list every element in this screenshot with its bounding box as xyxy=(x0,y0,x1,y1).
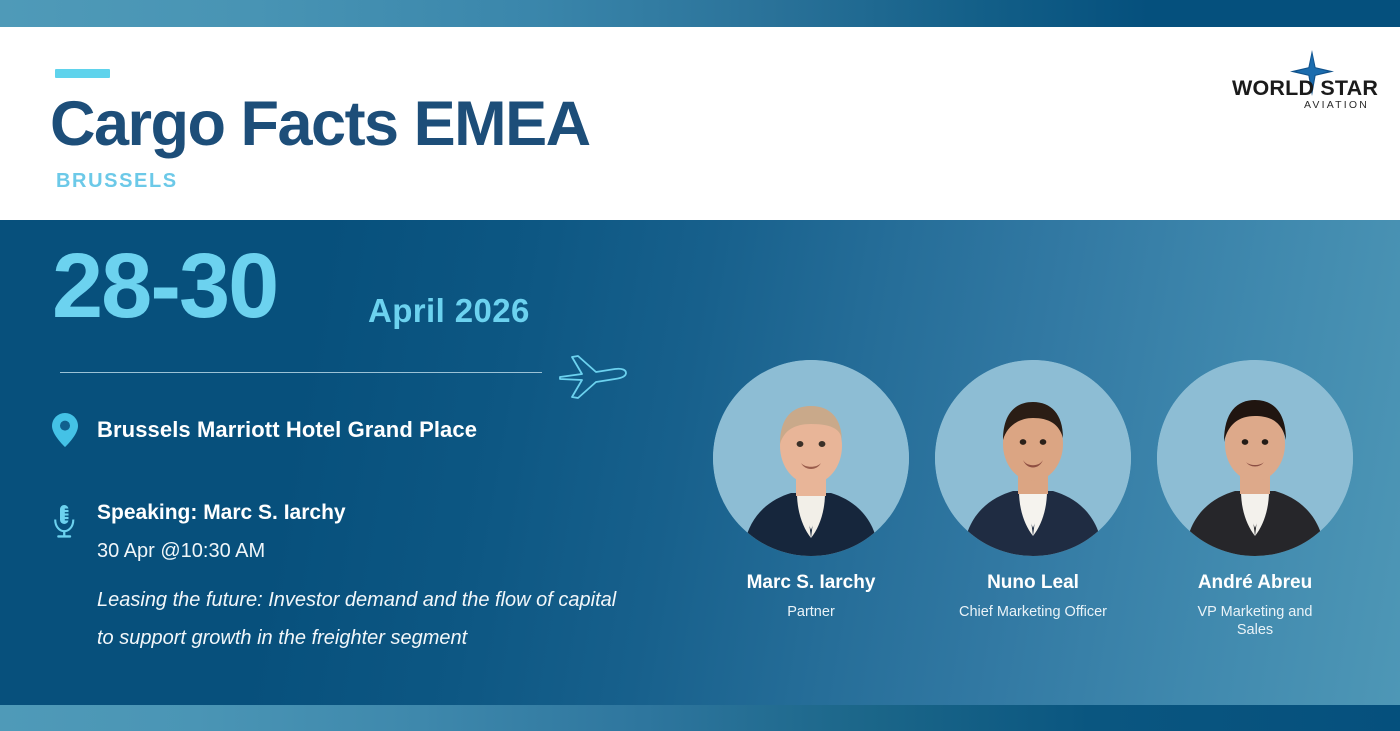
airplane-icon xyxy=(552,348,632,400)
logo-wordmark: WORLD STAR xyxy=(1232,76,1378,101)
speaker-name: André Abreu xyxy=(1198,572,1312,594)
header-bar: Cargo Facts EMEA BRUSSELS WORLD STAR AVI… xyxy=(0,27,1400,220)
speaker-name: Nuno Leal xyxy=(987,572,1079,594)
speaker-role: Partner xyxy=(787,603,835,622)
divider-line xyxy=(60,372,542,373)
portrait-icon xyxy=(713,360,909,556)
microphone-icon xyxy=(52,504,76,540)
venue-label: Brussels Marriott Hotel Grand Place xyxy=(97,417,477,443)
session-topic-line-2: to support growth in the freighter segme… xyxy=(97,619,616,657)
speaker-name: Marc S. Iarchy xyxy=(747,572,876,594)
logo-subtitle: AVIATION xyxy=(1304,99,1369,111)
event-date-range: 28-30 xyxy=(52,240,277,332)
session-time: 30 Apr @10:30 AM xyxy=(97,541,616,561)
session-speaker-label: Speaking: Marc S. Iarchy xyxy=(97,502,616,523)
avatar xyxy=(935,360,1131,556)
avatar xyxy=(713,360,909,556)
session-topic-line-1: Leasing the future: Investor demand and … xyxy=(97,581,616,619)
session-row: Speaking: Marc S. Iarchy 30 Apr @10:30 A… xyxy=(52,502,616,657)
page-title: Cargo Facts EMEA xyxy=(50,93,590,156)
location-pin-icon xyxy=(52,413,78,447)
speaker-list: Marc S. Iarchy Partner xyxy=(700,360,1390,640)
title-accent-bar xyxy=(55,69,110,78)
event-month-year: April 2026 xyxy=(368,292,530,330)
top-accent-strip xyxy=(0,0,1400,27)
venue-row: Brussels Marriott Hotel Grand Place xyxy=(52,413,477,447)
avatar xyxy=(1157,360,1353,556)
portrait-icon xyxy=(1157,360,1353,556)
speaker-card: Nuno Leal Chief Marketing Officer xyxy=(922,360,1144,640)
bottom-accent-strip xyxy=(0,705,1400,731)
portrait-icon xyxy=(935,360,1131,556)
main-content: 28-30 April 2026 Brussels Marriott Hotel… xyxy=(0,220,1400,705)
worldstar-aviation-logo: WORLD STAR AVIATION xyxy=(1232,50,1382,112)
speaker-role: VP Marketing and Sales xyxy=(1180,603,1330,640)
event-city-label: BRUSSELS xyxy=(56,170,178,193)
speaker-card: André Abreu VP Marketing and Sales xyxy=(1144,360,1366,640)
speaker-card: Marc S. Iarchy Partner xyxy=(700,360,922,640)
speaker-role: Chief Marketing Officer xyxy=(959,603,1107,622)
event-banner: Cargo Facts EMEA BRUSSELS WORLD STAR AVI… xyxy=(0,0,1400,731)
